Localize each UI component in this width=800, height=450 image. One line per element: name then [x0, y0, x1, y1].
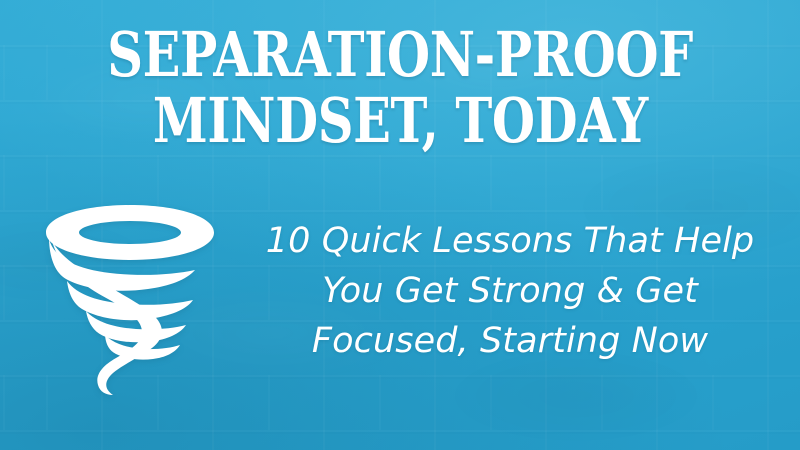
headline-line-1-text: Separation-Proof — [107, 22, 693, 88]
subtitle-line-1: 10 Quick Lessons That Help — [265, 216, 755, 266]
subtitle: 10 Quick Lessons That Help You Get Stron… — [265, 216, 755, 366]
headline-line-1: Separation-Proof — [0, 22, 800, 88]
headline: Separation-Proof Mindset, Today — [0, 22, 800, 154]
headline-line-2-text: Mindset, Today — [152, 88, 647, 154]
subtitle-line-2: You Get Strong & Get — [265, 266, 755, 316]
promo-banner: Separation-Proof Mindset, Today 10 Quick… — [0, 0, 800, 450]
tornado-icon — [44, 203, 216, 397]
headline-line-2: Mindset, Today — [0, 88, 800, 154]
subtitle-line-3: Focused, Starting Now — [265, 316, 755, 366]
